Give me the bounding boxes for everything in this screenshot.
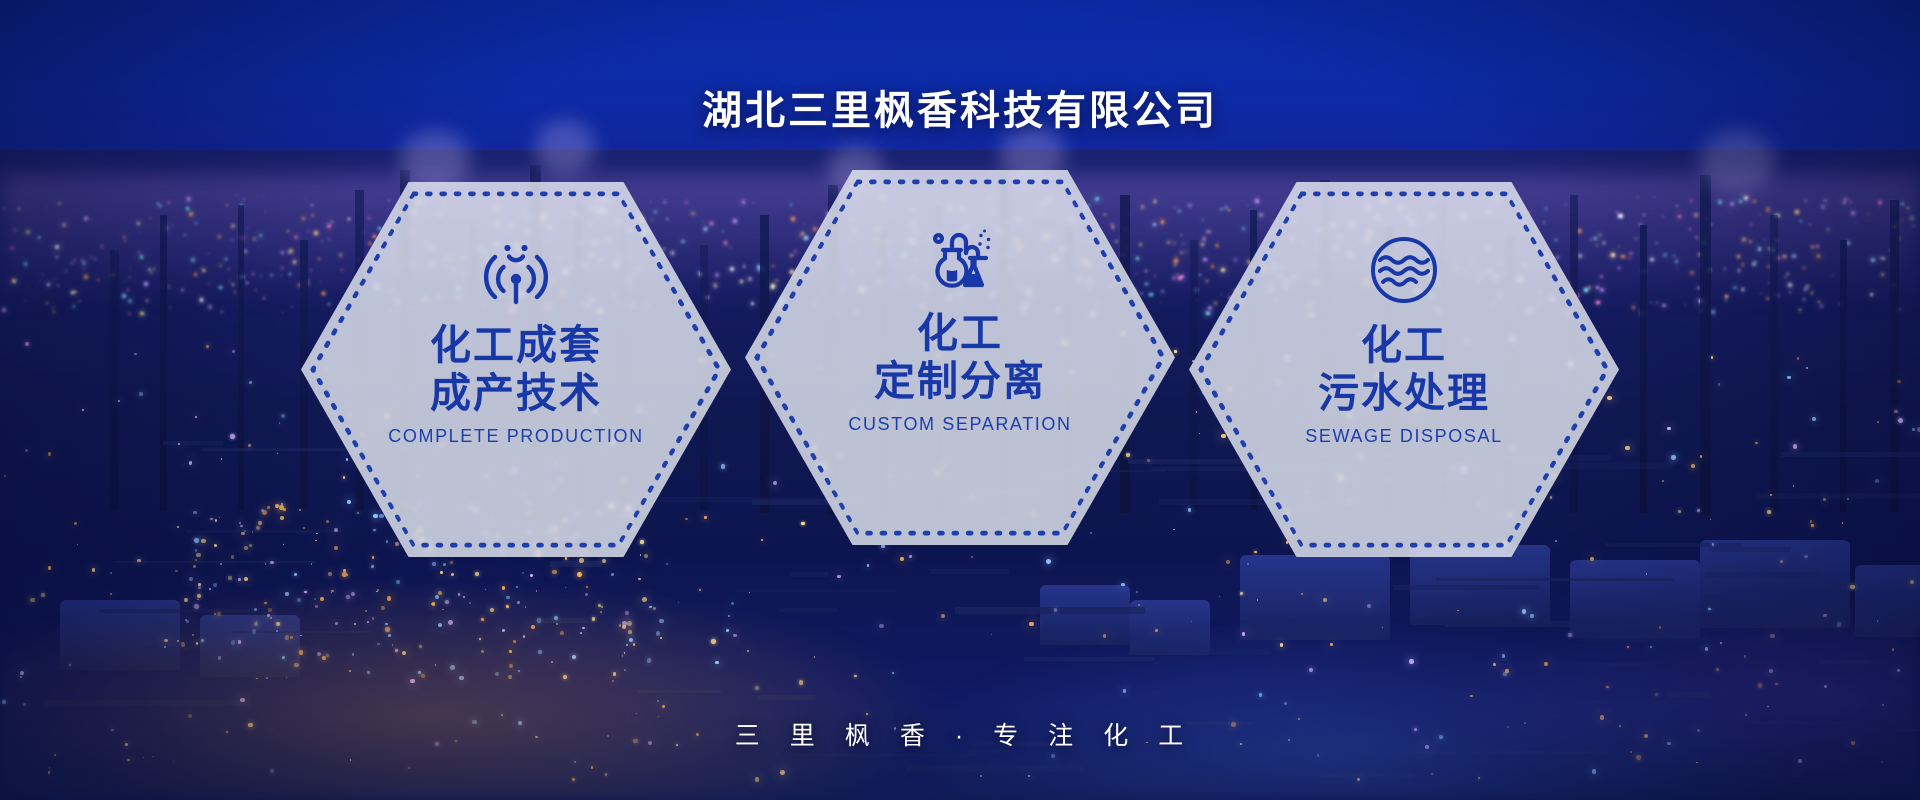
tagline-char: 三 (721, 716, 776, 752)
hex-content: 化工 定制分离 CUSTOM SEPARATION (745, 170, 1175, 545)
card-title-line1: 化工成套 (430, 322, 602, 368)
service-card-sewage-disposal[interactable]: 化工 污水处理 SEWAGE DISPOSAL (1189, 182, 1619, 557)
broadcast-smiley-icon (480, 234, 552, 306)
hex-content: 化工 污水处理 SEWAGE DISPOSAL (1189, 182, 1619, 557)
page-title: 湖北三里枫香科技有限公司 (0, 78, 1920, 136)
tagline-char: 枫 (831, 716, 886, 752)
card-subtitle-en: CUSTOM SEPARATION (848, 414, 1071, 435)
tagline-char: 里 (776, 716, 831, 752)
tagline-char: 专 (979, 716, 1034, 752)
card-title-line2: 定制分离 (874, 358, 1046, 406)
card-subtitle-en: COMPLETE PRODUCTION (388, 426, 643, 447)
card-title-line1: 化工 (917, 310, 1003, 356)
tagline-char: 化 (1089, 716, 1144, 752)
card-title-cn: 化工 污水处理 (1318, 322, 1490, 417)
tagline-char: 香 (886, 716, 941, 752)
card-title-line2: 成产技术 (430, 370, 602, 418)
card-title-line1: 化工 (1361, 322, 1447, 368)
card-title-cn: 化工 定制分离 (874, 310, 1046, 405)
water-waves-circle-icon (1368, 234, 1440, 306)
service-card-custom-separation[interactable]: 化工 定制分离 CUSTOM SEPARATION (745, 170, 1175, 545)
card-subtitle-en: SEWAGE DISPOSAL (1305, 426, 1502, 447)
service-card-group: 化工成套 成产技术 COMPLETE PRODUCTION (0, 182, 1920, 522)
card-title-line2: 污水处理 (1318, 370, 1490, 418)
tagline-char: 工 (1144, 716, 1199, 752)
card-title-cn: 化工成套 成产技术 (430, 322, 602, 417)
footer-tagline: 三里枫香·专注化工 (0, 716, 1920, 752)
service-card-complete-production[interactable]: 化工成套 成产技术 COMPLETE PRODUCTION (301, 182, 731, 557)
tagline-char: 注 (1034, 716, 1089, 752)
tagline-char: · (941, 722, 979, 751)
lab-flasks-icon (924, 222, 996, 294)
hex-content: 化工成套 成产技术 COMPLETE PRODUCTION (301, 182, 731, 557)
